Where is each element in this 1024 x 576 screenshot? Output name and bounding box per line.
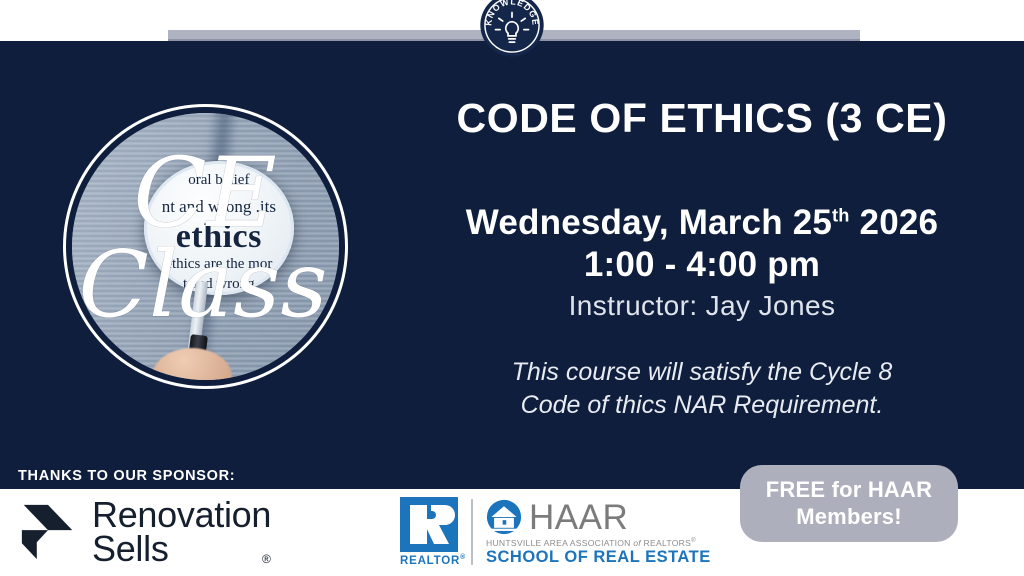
ce-class-photo: oral belief nt and wrong .its ethics eth… xyxy=(63,104,348,389)
haar-tagline-part-1: HUNTSVILLE AREA ASSOCIATION xyxy=(486,538,633,548)
magnifier-text-line-3: ethics xyxy=(144,218,294,256)
event-details: CODE OF ETHICS (3 CE) Wednesday, March 2… xyxy=(380,96,1024,422)
event-date: Wednesday, March 25th 2026 xyxy=(380,202,1024,243)
renovation-sells-chevron-icon xyxy=(20,503,76,561)
event-date-ordinal: th xyxy=(832,206,850,226)
event-note-line-2: Code of thics NAR Requirement. xyxy=(380,389,1024,422)
magnifying-glass-icon: oral belief nt and wrong .its ethics eth… xyxy=(144,161,294,295)
event-date-suffix: 2026 xyxy=(850,203,939,242)
event-flyer: KNOWLEDGE oral belief nt and wrong .its … xyxy=(0,0,1024,576)
haar-wordmark: HAAR xyxy=(529,500,628,535)
magnifier-text-line-1: oral belief xyxy=(144,172,294,189)
haar-tagline-mark: ® xyxy=(691,538,696,544)
sponsor-registered-mark: ® xyxy=(262,552,271,566)
page-title: CODE OF ETHICS (3 CE) xyxy=(380,96,1024,140)
haar-tagline-italic: of xyxy=(633,538,641,548)
event-time: 1:00 - 4:00 pm xyxy=(380,244,1024,285)
logo-divider xyxy=(471,499,473,565)
realtor-logo: REALTOR® xyxy=(400,497,462,567)
knowledge-badge: KNOWLEDGE xyxy=(479,0,545,58)
sponsor-name-line-1: Renovation xyxy=(92,498,271,532)
realtor-r-block-icon xyxy=(400,497,458,552)
haar-logo-lockup: REALTOR® HAAR HUNTSVILLE AREA ASSOCIATIO… xyxy=(400,497,711,567)
sponsor-label: THANKS TO OUR SPONSOR: xyxy=(18,468,235,484)
event-instructor: Instructor: Jay Jones xyxy=(380,290,1024,322)
promo-line-1: FREE for HAAR xyxy=(766,477,932,504)
haar-logo: HAAR HUNTSVILLE AREA ASSOCIATION of REAL… xyxy=(486,497,711,567)
event-note: This course will satisfy the Cycle 8 Cod… xyxy=(380,356,1024,422)
promo-line-2: Members! xyxy=(766,504,932,531)
realtor-wordmark-text: REALTOR xyxy=(400,555,460,567)
free-for-members-badge: FREE for HAAR Members! xyxy=(740,465,958,542)
haar-tagline-part-2: REALTORS xyxy=(641,538,691,548)
photo-image: oral belief nt and wrong .its ethics eth… xyxy=(72,113,339,380)
realtor-wordmark: REALTOR® xyxy=(400,554,462,567)
sponsor-name: Renovation Sells xyxy=(92,498,271,566)
haar-tagline: HUNTSVILLE AREA ASSOCIATION of REALTORS® xyxy=(486,538,711,548)
magnifier-text-line-2: nt and wrong .its xyxy=(144,197,294,217)
haar-school-line: SCHOOL OF REAL ESTATE xyxy=(486,548,711,567)
haar-house-icon xyxy=(486,499,522,535)
realtor-wordmark-mark: ® xyxy=(460,554,466,561)
event-note-line-1: This course will satisfy the Cycle 8 xyxy=(380,356,1024,389)
event-date-prefix: Wednesday, March 25 xyxy=(466,203,832,242)
magnifier-text-line-4: ethics are the mor xyxy=(144,256,294,273)
sponsor-logo: Renovation Sells xyxy=(20,498,271,566)
sponsor-name-line-2: Sells xyxy=(92,532,271,566)
magnifier-text-line-5: t and wrong xyxy=(144,276,294,293)
